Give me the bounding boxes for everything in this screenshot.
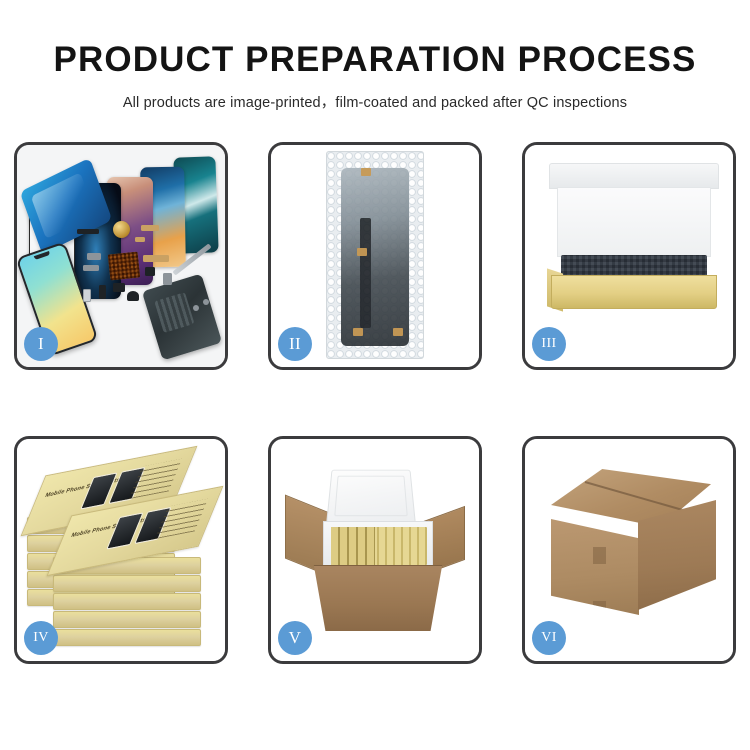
panel-step-1[interactable]: I bbox=[14, 142, 228, 370]
process-step-grid: I II bbox=[14, 142, 736, 664]
step-badge-2: II bbox=[278, 327, 312, 361]
tape-strip bbox=[353, 328, 363, 336]
step-badge-3: III bbox=[532, 327, 566, 361]
panel-step-2[interactable]: II bbox=[268, 142, 482, 370]
tape-strip bbox=[361, 168, 371, 176]
box-artwork-phone bbox=[80, 472, 117, 509]
wrapped-screen-icon bbox=[341, 168, 409, 346]
carton-front-icon bbox=[305, 565, 451, 631]
page-header: PRODUCT PREPARATION PROCESS All products… bbox=[0, 0, 750, 112]
panel-step-6[interactable]: VI bbox=[522, 436, 736, 664]
tape-strip bbox=[393, 328, 403, 336]
grey-foam-padding-icon bbox=[561, 255, 707, 277]
step-badge-6: VI bbox=[532, 621, 566, 655]
speaker-module-icon bbox=[113, 221, 130, 238]
box-spec-lines bbox=[155, 499, 208, 539]
panel-step-5[interactable]: V bbox=[268, 436, 482, 664]
panel-step-3[interactable]: III bbox=[522, 142, 736, 370]
yellow-box-front-icon bbox=[551, 275, 717, 309]
stacked-box bbox=[53, 593, 201, 610]
spare-part-bit bbox=[83, 289, 91, 302]
spare-part-bit bbox=[145, 267, 155, 276]
step-badge-1: I bbox=[24, 327, 58, 361]
spare-part-bit bbox=[163, 273, 172, 285]
spare-part-bit bbox=[141, 225, 159, 231]
box-lid-icon bbox=[549, 163, 719, 189]
step-badge-4: IV bbox=[24, 621, 58, 655]
spare-part-bit bbox=[87, 253, 101, 260]
stacked-box bbox=[53, 575, 201, 592]
bubble-wrap-bag-icon bbox=[326, 151, 424, 359]
foam-lid-icon bbox=[326, 470, 416, 524]
yellow-boxes-inside-icon bbox=[331, 527, 375, 565]
spare-part-bit bbox=[99, 285, 106, 299]
tape-strip bbox=[357, 248, 367, 256]
box-artwork-phone bbox=[106, 512, 143, 549]
spare-part-bit bbox=[77, 229, 99, 234]
spare-part-bit bbox=[143, 255, 169, 262]
spare-part-bit bbox=[83, 265, 99, 271]
spare-part-bit bbox=[127, 291, 139, 301]
spare-part-bit bbox=[113, 283, 125, 292]
spare-part-bit bbox=[203, 299, 209, 305]
spare-part-bit bbox=[193, 305, 199, 311]
page-title: PRODUCT PREPARATION PROCESS bbox=[0, 38, 750, 82]
spare-part-bit bbox=[135, 237, 145, 242]
step-badge-5: V bbox=[278, 621, 312, 655]
box-stack-icon: Mobile Phone Spare Parts Mobile Phone Sp… bbox=[23, 457, 223, 653]
box-back-wall-icon bbox=[557, 187, 711, 257]
box-spec-lines bbox=[129, 459, 182, 499]
page-subtitle: All products are image-printed，film-coat… bbox=[0, 91, 750, 112]
product-preparation-process-page: PRODUCT PREPARATION PROCESS All products… bbox=[0, 0, 750, 750]
logic-board-icon bbox=[108, 252, 141, 281]
stacked-box bbox=[53, 629, 201, 646]
carton-handle-tab bbox=[593, 547, 606, 564]
panel-step-4[interactable]: Mobile Phone Spare Parts Mobile Phone Sp… bbox=[14, 436, 228, 664]
stacked-box bbox=[53, 611, 201, 628]
